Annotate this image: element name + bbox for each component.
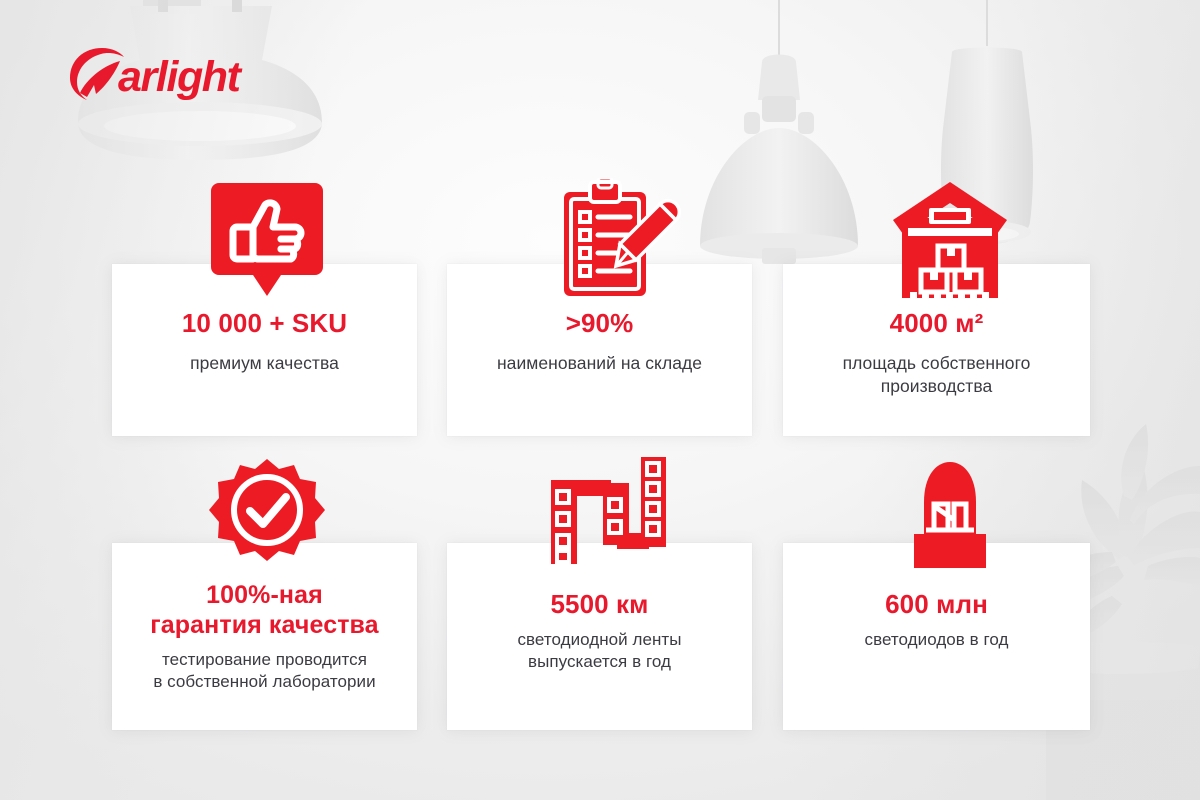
stat-card-warranty[interactable]: 100%-ная гарантия качества тестирование … <box>112 543 417 730</box>
stat-card-area[interactable]: 4000 м² площадь собственного производств… <box>783 264 1090 436</box>
stat-card-tape[interactable]: 5500 км светодиодной ленты выпускается в… <box>447 543 752 730</box>
stat-card-leds[interactable]: 600 млн светодиодов в год <box>783 543 1090 730</box>
stat-card-sku[interactable]: 10 000 + SKU премиум качества <box>112 264 417 436</box>
stat-label: площадь собственного производства <box>843 352 1031 398</box>
stat-card-stock[interactable]: >90% наименований на складе <box>447 264 752 436</box>
arlight-wordmark: arlight <box>118 53 243 101</box>
arlight-logo[interactable]: arlight <box>58 44 298 106</box>
stat-value: 100%-ная гарантия качества <box>150 581 378 640</box>
stat-value: 4000 м² <box>890 308 984 339</box>
stat-label: тестирование проводится в собственной ла… <box>153 649 375 694</box>
stat-label: светодиодов в год <box>865 629 1009 651</box>
stat-label: наименований на складе <box>497 352 702 375</box>
stat-value: 600 млн <box>885 589 988 620</box>
arlight-swoosh-logo-icon <box>70 48 124 100</box>
stat-label: светодиодной ленты выпускается в год <box>517 629 681 674</box>
stat-value: >90% <box>566 308 634 339</box>
stat-value: 5500 км <box>550 589 648 620</box>
stat-value: 10 000 + SKU <box>182 308 347 339</box>
stat-label: премиум качества <box>190 352 339 375</box>
